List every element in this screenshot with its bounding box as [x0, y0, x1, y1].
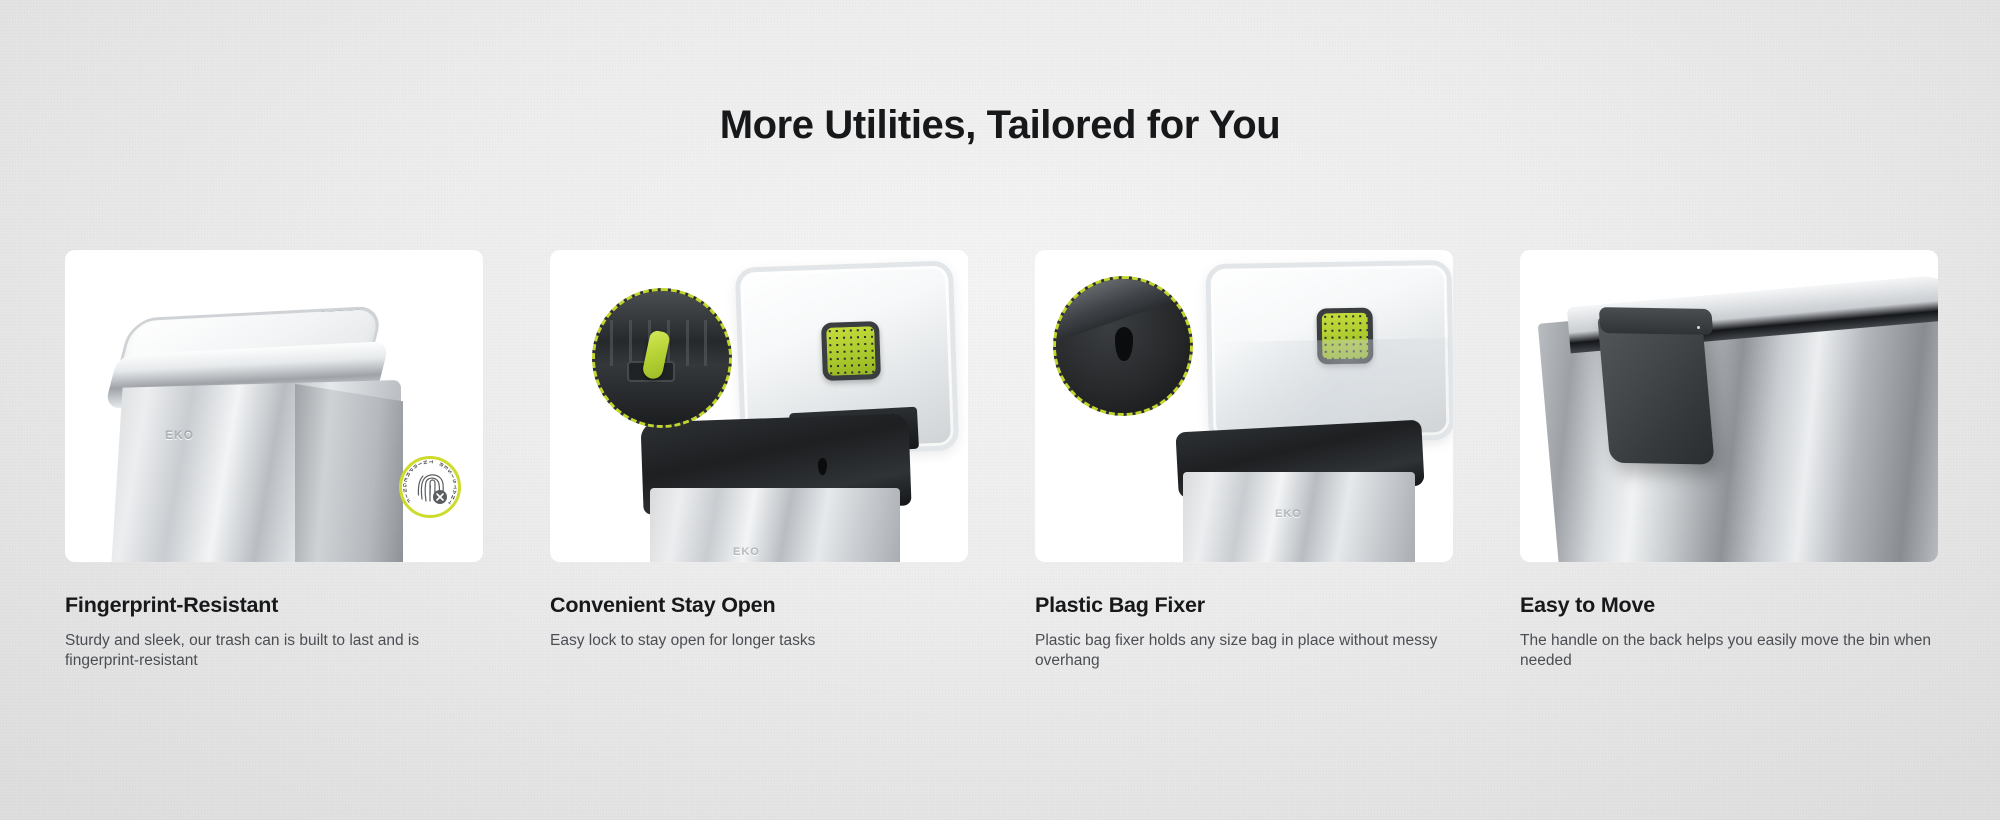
card-description: Plastic bag fixer holds any size bag in … [1035, 631, 1453, 670]
fingerprint-icon [410, 467, 450, 507]
feature-card-convenient-stay-open[interactable]: EKO Convenient Stay Open Easy lock to st… [550, 250, 968, 670]
badge-ring-char: N [403, 488, 408, 495]
detail-inset-bag-fixer [1053, 276, 1193, 416]
product-image-fingerprint-resistant: EKO FINGERPRINT RESISTANT [65, 250, 483, 562]
badge-ring-char: I [405, 493, 409, 499]
bin-body [650, 488, 900, 562]
brand-logo-eko: EKO [165, 428, 194, 442]
brand-logo-eko: EKO [1275, 508, 1302, 520]
fingerprint-resistant-badge: FINGERPRINT RESISTANT [399, 456, 461, 518]
card-description: The handle on the back helps you easily … [1520, 631, 1938, 670]
card-title: Fingerprint-Resistant [65, 593, 483, 618]
feature-card-plastic-bag-fixer[interactable]: EKO Plastic Bag Fixer Plastic bag fixer … [1035, 250, 1453, 670]
bag-fixer-closeup [1056, 279, 1190, 413]
card-description: Easy lock to stay open for longer tasks [550, 631, 968, 651]
carry-handle [1597, 315, 1714, 464]
product-image-easy-to-move [1520, 250, 1938, 562]
bag-fixer-keyhole [1115, 327, 1133, 361]
feature-card-easy-to-move[interactable]: Easy to Move The handle on the back help… [1520, 250, 1938, 670]
product-image-plastic-bag-fixer: EKO [1035, 250, 1453, 562]
brand-logo-eko: EKO [733, 546, 760, 558]
card-description: Sturdy and sleek, our trash can is built… [65, 631, 483, 670]
odor-filter-vent [821, 321, 881, 381]
bin-body-side [295, 378, 403, 562]
vent-perforations [826, 326, 876, 376]
utilities-feature-section: More Utilities, Tailored for You EKO FIN… [0, 0, 2000, 820]
carry-handle-top [1599, 307, 1714, 335]
feature-card-fingerprint-resistant[interactable]: EKO FINGERPRINT RESISTANT [65, 250, 483, 670]
card-title: Plastic Bag Fixer [1035, 593, 1453, 618]
detail-inset-stay-open-lock [592, 288, 732, 428]
lock-lever-closeup [595, 291, 729, 425]
handle-pivot-dot [1697, 326, 1700, 329]
feature-card-grid: EKO FINGERPRINT RESISTANT [65, 250, 1940, 670]
card-title: Easy to Move [1520, 593, 1938, 618]
card-title: Convenient Stay Open [550, 593, 968, 618]
product-image-convenient-stay-open: EKO [550, 250, 968, 562]
page-title: More Utilities, Tailored for You [0, 103, 2000, 148]
